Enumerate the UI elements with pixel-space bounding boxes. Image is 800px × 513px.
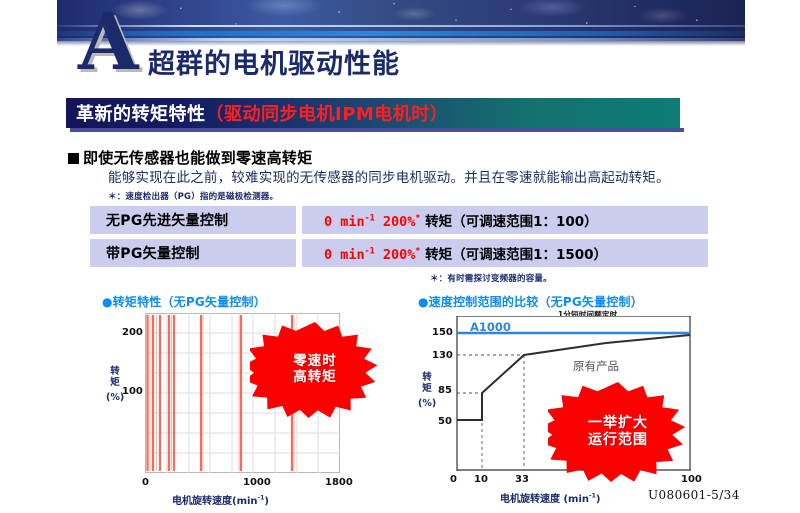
chart2-ytick-130: 130	[432, 350, 453, 361]
value-percent: 200%	[375, 247, 416, 263]
section-paragraph: 能够实现在此之前，较难实现的无传感器的同步电机驱动。并且在零速就能输出高起动转矩…	[108, 170, 728, 187]
chart-title-speed-range: ●速度控制范围的比较（无PG矢量控制）	[418, 293, 643, 310]
starry-banner-image	[57, 0, 745, 46]
heading-bar: 革新的转矩特性（驱动同步电机IPM电机时）	[66, 98, 680, 128]
chart1-y-axis-title: 转矩	[108, 366, 122, 388]
table-cell-mode-label: 带PG矢量控制	[90, 243, 200, 263]
value-range: （可调速范围1：1500）	[452, 247, 607, 263]
table-cell-mode: 带PG矢量控制	[90, 239, 296, 267]
table-cell-mode-label: 无PG先进矢量控制	[90, 210, 228, 230]
logo-letter-a: A	[78, 4, 139, 82]
value-speed: 0 min	[324, 214, 365, 230]
value-speed: 0 min	[324, 247, 365, 263]
value-speed-exponent: -1	[365, 246, 375, 256]
footer-doc-id: U080601-5/34	[648, 488, 740, 502]
footnote-pg: ＊：速度检出器（PG）指的是磁极检测器。	[108, 190, 278, 202]
chart1-xtick-1800: 1800	[325, 477, 353, 488]
footnote-capacity: ＊：有时需探讨变频器的容量。	[430, 272, 552, 284]
slide-root: A 超群的电机驱动性能 革新的转矩特性（驱动同步电机IPM电机时） 即使无传感器…	[0, 0, 800, 513]
chart1-xtick-0: 0	[142, 477, 149, 488]
table-cell-value: 0 min-1 200%* 转矩（可调速范围1：100）	[302, 206, 708, 234]
chart2-ytick-150: 150	[432, 327, 453, 338]
starburst-shape-icon	[548, 382, 688, 482]
callout-expanded-operating-range: 一举扩大 运行范围	[548, 382, 688, 482]
value-percent: 200%	[375, 214, 416, 230]
heading-bar-shadow	[70, 128, 684, 132]
value-torque-label: 转矩	[420, 214, 452, 230]
chart1-ytick-100: 100	[122, 386, 143, 397]
banner-line-mid	[57, 31, 745, 36]
chart1-x-axis-title: 电机旋转速度(min	[172, 496, 258, 507]
banner-line-top	[57, 25, 745, 27]
table-cell-value-inner: 0 min-1 200%* 转矩（可调速范围1：1500）	[302, 243, 607, 263]
heading-red-text: （驱动同步电机IPM电机时）	[206, 104, 449, 125]
chart2-xtick-0: 0	[450, 474, 457, 485]
spec-table: 无PG先进矢量控制 0 min-1 200%* 转矩（可调速范围1：100） 带…	[90, 206, 708, 272]
section-bullet-label: 即使无传感器也能做到零速高转矩	[83, 149, 313, 167]
chart2-ytick-50: 50	[438, 416, 452, 427]
chart2-x-axis-title: 电机旋转速度 (min	[500, 494, 589, 505]
value-torque-label: 转矩	[420, 247, 452, 263]
chart2-x-axis-exponent: -1	[589, 493, 596, 500]
table-cell-mode: 无PG先进矢量控制	[90, 206, 296, 234]
section-bullet: 即使无传感器也能做到零速高转矩	[68, 147, 313, 168]
table-row: 无PG先进矢量控制 0 min-1 200%* 转矩（可调速范围1：100）	[90, 206, 708, 234]
chart2-y-axis-label: 转矩	[420, 372, 434, 394]
table-cell-value: 0 min-1 200%* 转矩（可调速范围1：1500）	[302, 239, 708, 267]
chart1-xtick-1000: 1000	[243, 477, 271, 488]
heading-white-text: 革新的转矩特性	[76, 104, 206, 125]
page-title: 超群的电机驱动性能	[148, 42, 400, 81]
table-cell-value-inner: 0 min-1 200%* 转矩（可调速范围1：100）	[302, 210, 598, 230]
chart1-y-axis-label: 转矩	[108, 366, 122, 388]
heading-bar-text: 革新的转矩特性（驱动同步电机IPM电机时）	[66, 100, 448, 126]
chart2-series-label-legacy: 原有产品	[573, 358, 619, 374]
callout-zero-speed-high-torque: 零速时 高转矩	[250, 322, 380, 418]
chart1-ytick-200: 200	[122, 327, 143, 338]
chart2-xtick-33: 33	[515, 474, 529, 485]
value-range: （可调速范围1：100）	[452, 214, 598, 230]
chart2-ytick-85: 85	[438, 385, 452, 396]
starburst-shape-icon	[250, 322, 380, 418]
chart2-xtick-10: 10	[474, 474, 488, 485]
chart2-y-axis-unit: (%)	[418, 398, 436, 409]
chart-title-torque: ●转矩特性（无PG矢量控制）	[102, 293, 266, 310]
chart1-x-axis-label: 电机旋转速度(min-1)	[172, 492, 269, 507]
table-row: 带PG矢量控制 0 min-1 200%* 转矩（可调速范围1：1500）	[90, 239, 708, 267]
chart2-x-axis-tail: )	[596, 494, 601, 505]
chart1-x-axis-tail: )	[264, 496, 269, 507]
square-bullet-icon	[68, 153, 79, 164]
chart2-y-axis-title: 转矩	[420, 372, 434, 394]
chart2-x-axis-label: 电机旋转速度 (min-1)	[500, 490, 600, 505]
value-speed-exponent: -1	[365, 213, 375, 223]
chart2-series-label-a1000: A1000	[470, 320, 511, 334]
